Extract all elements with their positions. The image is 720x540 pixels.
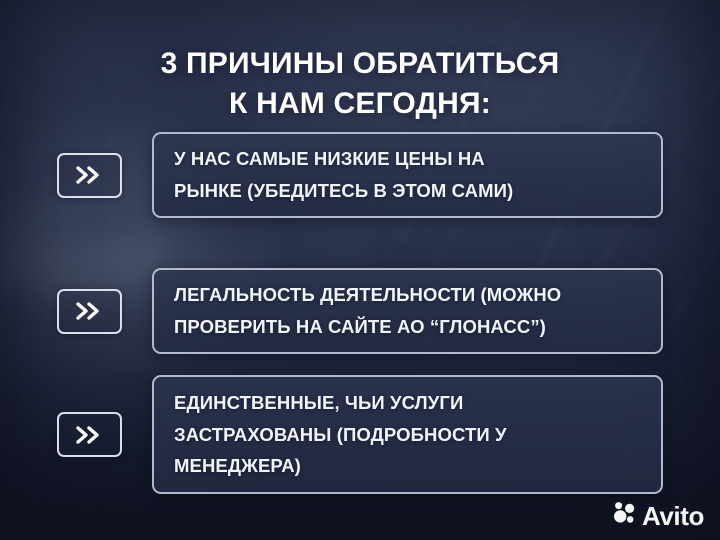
double-chevron-right-icon bbox=[57, 412, 122, 457]
reason-item: ЛЕГАЛЬНОСТЬ ДЕЯТЕЛЬНОСТИ (МОЖНО ПРОВЕРИТ… bbox=[0, 268, 720, 354]
page-title: 3 ПРИЧИНЫ ОБРАТИТЬСЯ К НАМ СЕГОДНЯ: bbox=[0, 44, 720, 124]
reason-item: ЕДИНСТВЕННЫЕ, ЧЬИ УСЛУГИ ЗАСТРАХОВАНЫ (П… bbox=[0, 375, 720, 494]
reason-item: У НАС САМЫЕ НИЗКИЕ ЦЕНЫ НА РЫНКЕ (УБЕДИТ… bbox=[0, 132, 720, 218]
avito-watermark: Avito bbox=[612, 501, 704, 530]
double-chevron-right-icon bbox=[57, 289, 122, 334]
avito-wordmark: Avito bbox=[642, 503, 704, 529]
reason-text: У НАС САМЫЕ НИЗКИЕ ЦЕНЫ НА РЫНКЕ (УБЕДИТ… bbox=[154, 143, 533, 207]
reason-card: ЛЕГАЛЬНОСТЬ ДЕЯТЕЛЬНОСТИ (МОЖНО ПРОВЕРИТ… bbox=[152, 268, 663, 354]
reason-card: ЕДИНСТВЕННЫЕ, ЧЬИ УСЛУГИ ЗАСТРАХОВАНЫ (П… bbox=[152, 375, 663, 494]
promo-banner: 3 ПРИЧИНЫ ОБРАТИТЬСЯ К НАМ СЕГОДНЯ: У НА… bbox=[0, 0, 720, 540]
avito-dots-logo-icon bbox=[612, 501, 636, 530]
reason-text: ЕДИНСТВЕННЫЕ, ЧЬИ УСЛУГИ ЗАСТРАХОВАНЫ (П… bbox=[154, 387, 527, 482]
double-chevron-right-icon bbox=[57, 153, 122, 198]
reason-text: ЛЕГАЛЬНОСТЬ ДЕЯТЕЛЬНОСТИ (МОЖНО ПРОВЕРИТ… bbox=[154, 279, 581, 343]
reason-card: У НАС САМЫЕ НИЗКИЕ ЦЕНЫ НА РЫНКЕ (УБЕДИТ… bbox=[152, 132, 663, 218]
